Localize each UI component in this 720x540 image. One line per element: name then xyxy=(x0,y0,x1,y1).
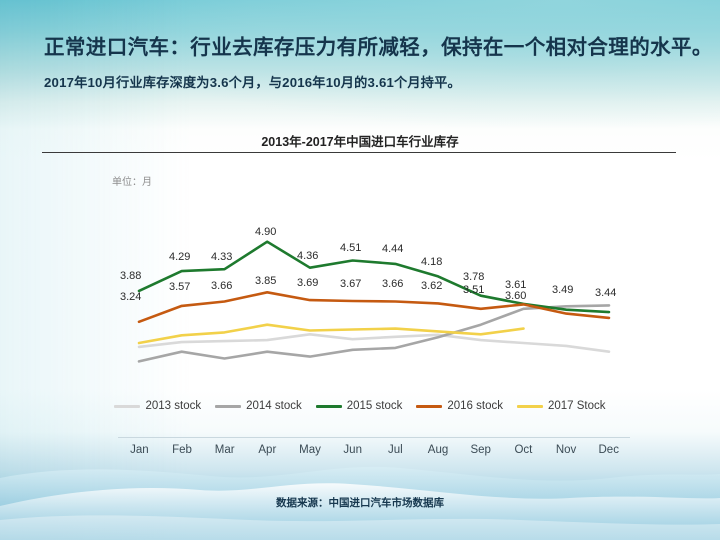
data-value-label: 4.90 xyxy=(255,226,276,238)
legend-swatch-icon xyxy=(114,405,140,408)
data-value-label: 3.85 xyxy=(255,275,276,287)
legend-swatch-icon xyxy=(416,405,442,408)
legend-label: 2013 stock xyxy=(145,400,201,412)
x-axis-tick-aug: Aug xyxy=(417,444,460,466)
data-value-label: 3.24 xyxy=(120,291,141,303)
legend-item-2016-stock[interactable]: 2016 stock xyxy=(416,400,503,412)
legend-swatch-icon xyxy=(517,405,543,408)
legend-item-2015-stock[interactable]: 2015 stock xyxy=(316,400,403,412)
chart-unit-note: 单位：月 xyxy=(112,173,152,188)
data-value-label: 3.67 xyxy=(340,278,361,290)
chart-title: 2013年-2017年中国进口车行业库存 xyxy=(0,131,720,150)
legend-item-2013-stock[interactable]: 2013 stock xyxy=(114,400,201,412)
data-value-label: 3.49 xyxy=(552,284,573,296)
legend-swatch-icon xyxy=(316,405,342,408)
data-value-label: 4.36 xyxy=(297,250,318,262)
background-wave-decoration xyxy=(0,420,720,540)
chart-source-note: 数据来源：中国进口汽车市场数据库 xyxy=(0,495,720,510)
slide-subheadline: 2017年10月行业库存深度为3.6个月，与2016年10月的3.61个月持平。 xyxy=(44,72,684,91)
x-axis-tick-apr: Apr xyxy=(246,444,289,466)
data-value-label: 4.44 xyxy=(382,243,403,255)
x-axis-tick-may: May xyxy=(289,444,332,466)
data-value-label: 3.69 xyxy=(297,277,318,289)
slide-headline: 正常进口汽车：行业去库存压力有所减轻，保持在一个相对合理的水平。 xyxy=(44,30,684,60)
data-value-label: 3.88 xyxy=(120,270,141,282)
legend-swatch-icon xyxy=(215,405,241,408)
title-divider xyxy=(42,152,676,153)
data-value-label: 3.66 xyxy=(382,278,403,290)
data-value-label: 3.44 xyxy=(595,287,616,299)
data-value-label: 3.60 xyxy=(505,290,526,302)
x-axis-tick-mar: Mar xyxy=(203,444,246,466)
chart-legend: 2013 stock2014 stock2015 stock2016 stock… xyxy=(0,400,720,412)
legend-label: 2014 stock xyxy=(246,400,302,412)
x-axis-line xyxy=(118,437,630,438)
x-axis-tick-dec: Dec xyxy=(587,444,630,466)
series-line-2016-stock xyxy=(139,292,609,322)
data-value-label: 3.66 xyxy=(211,280,232,292)
data-value-label: 4.51 xyxy=(340,242,361,254)
legend-label: 2017 Stock xyxy=(548,400,606,412)
series-line-2017-stock xyxy=(139,325,524,343)
data-value-label: 3.51 xyxy=(463,284,484,296)
x-axis-tick-feb: Feb xyxy=(161,444,204,466)
legend-label: 2015 stock xyxy=(347,400,403,412)
data-value-label: 4.29 xyxy=(169,251,190,263)
data-value-label: 3.78 xyxy=(463,271,484,283)
legend-label: 2016 stock xyxy=(447,400,503,412)
x-axis-tick-sep: Sep xyxy=(459,444,502,466)
data-value-label: 3.62 xyxy=(421,280,442,292)
x-axis-labels: JanFebMarAprMayJunJulAugSepOctNovDec xyxy=(118,444,630,466)
legend-item-2017-stock[interactable]: 2017 Stock xyxy=(517,400,606,412)
data-value-label: 3.57 xyxy=(169,281,190,293)
data-value-label: 4.18 xyxy=(421,256,442,268)
x-axis-tick-oct: Oct xyxy=(502,444,545,466)
x-axis-tick-jan: Jan xyxy=(118,444,161,466)
x-axis-tick-jun: Jun xyxy=(331,444,374,466)
legend-item-2014-stock[interactable]: 2014 stock xyxy=(215,400,302,412)
data-value-label: 4.33 xyxy=(211,251,232,263)
x-axis-tick-jul: Jul xyxy=(374,444,417,466)
x-axis-tick-nov: Nov xyxy=(545,444,588,466)
